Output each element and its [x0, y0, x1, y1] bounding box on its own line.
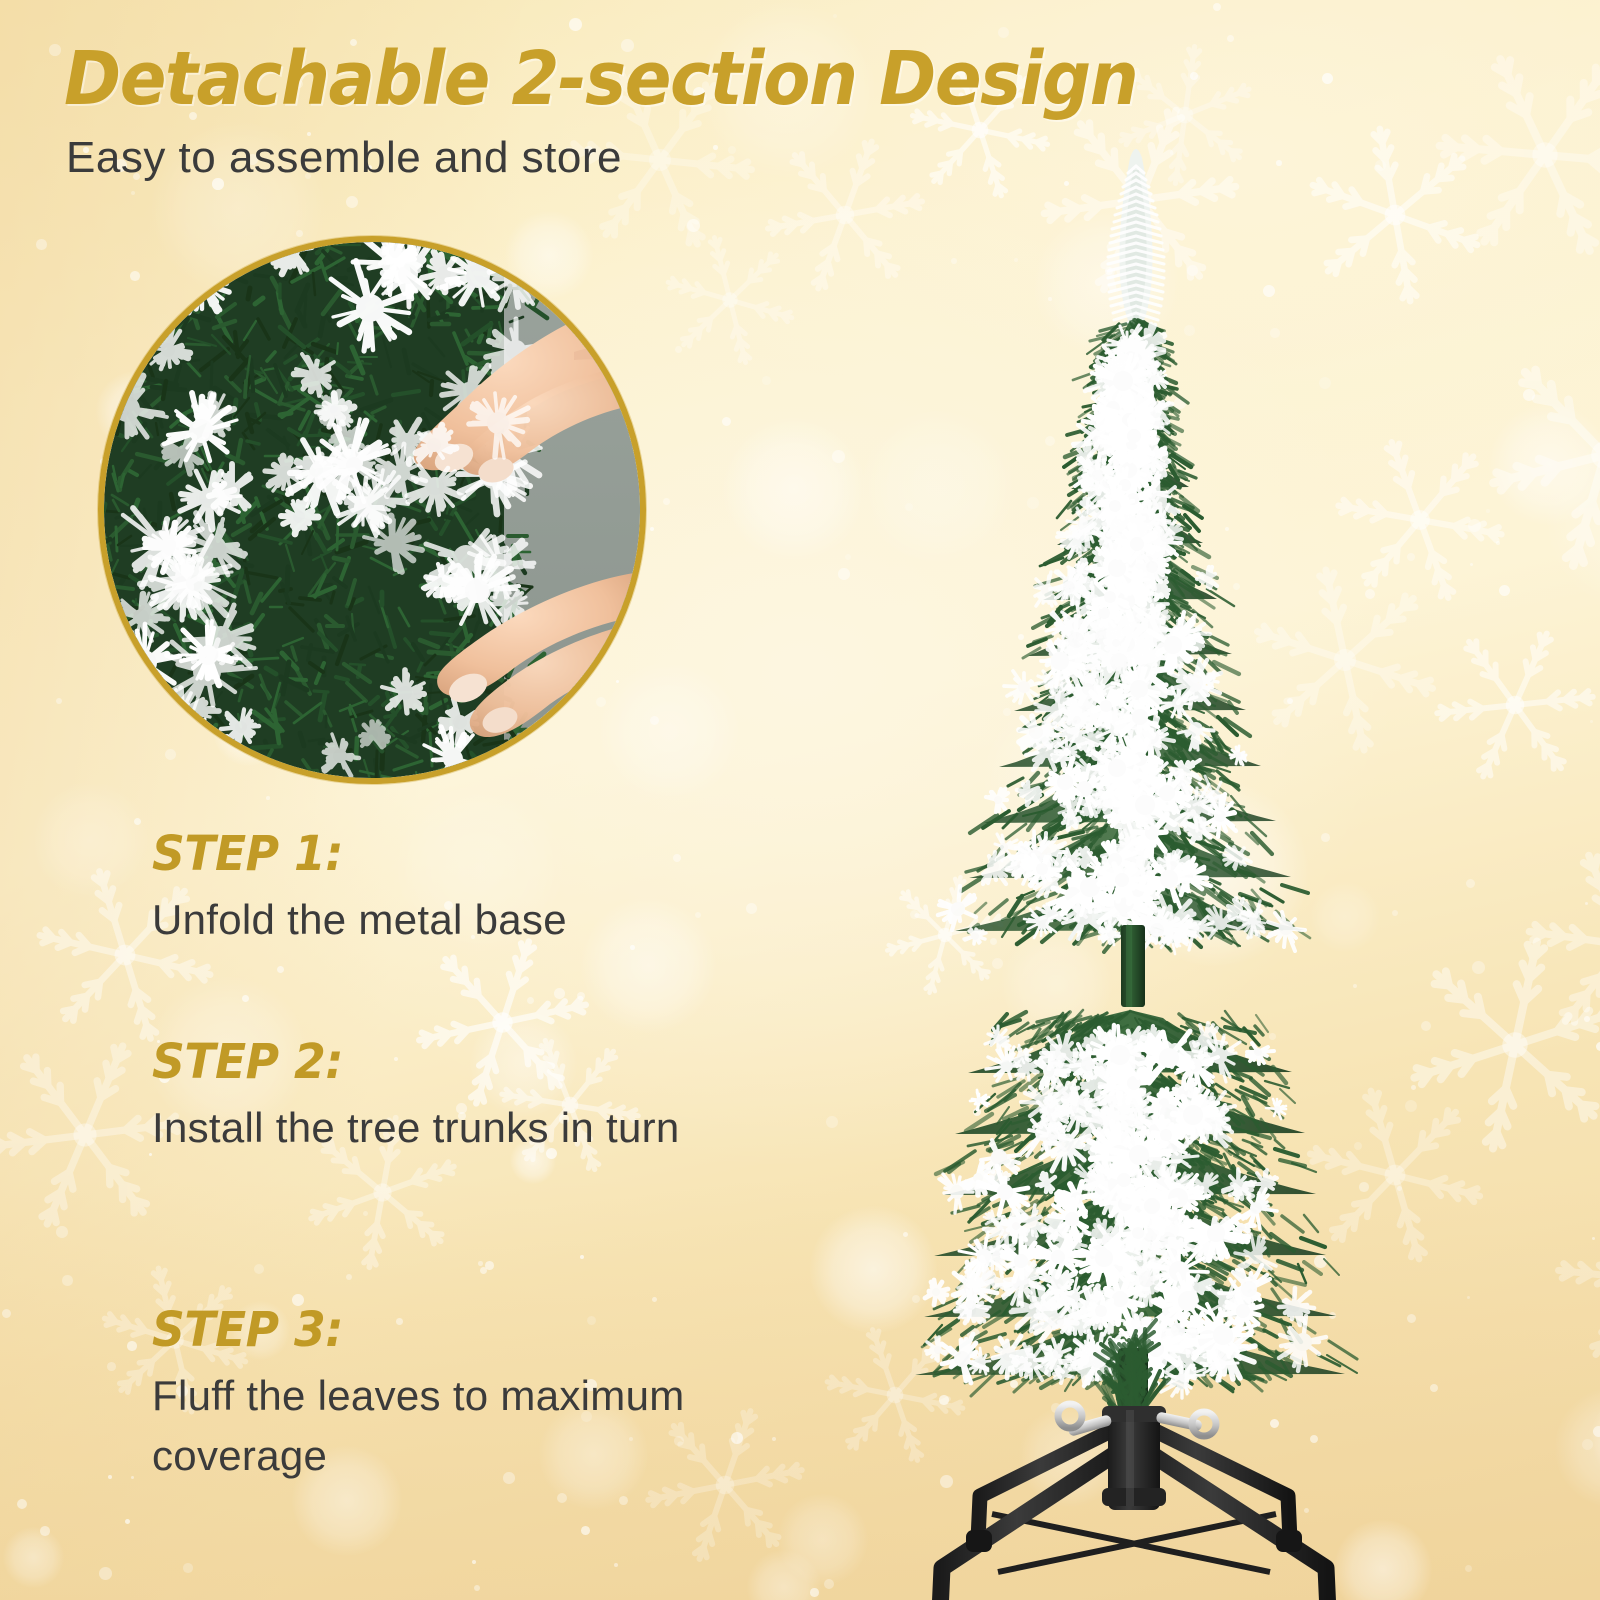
step-1-label: STEP 1:	[152, 826, 546, 882]
page-title: Detachable 2-section Design	[64, 36, 1137, 122]
step-2-text: Install the tree trunks in turn	[152, 1098, 680, 1158]
step-2-label: STEP 2:	[152, 1034, 653, 1090]
flocked-branch-illustration	[104, 242, 640, 778]
step-1: STEP 1: Unfold the metal base	[152, 826, 567, 950]
flocked-branch-photo	[104, 242, 640, 778]
step-3-text: Fluff the leaves to maximum coverage	[152, 1366, 712, 1485]
tree-spire	[1108, 149, 1164, 334]
infographic-canvas: Detachable 2-section Design Easy to asse…	[0, 0, 1600, 1600]
tree-trunk-connector	[1121, 925, 1145, 1007]
flocked-branch-closeup-inset	[98, 236, 646, 784]
step-3-label: STEP 3:	[152, 1302, 684, 1358]
page-subtitle: Easy to assemble and store	[66, 133, 622, 183]
step-2: STEP 2: Install the tree trunks in turn	[152, 1034, 680, 1158]
step-3: STEP 3: Fluff the leaves to maximum cove…	[152, 1302, 712, 1485]
tree-upper-section	[938, 149, 1310, 954]
product-tree-image	[830, 120, 1530, 1600]
metal-folding-stand	[926, 1404, 1342, 1600]
step-1-text: Unfold the metal base	[152, 890, 567, 950]
